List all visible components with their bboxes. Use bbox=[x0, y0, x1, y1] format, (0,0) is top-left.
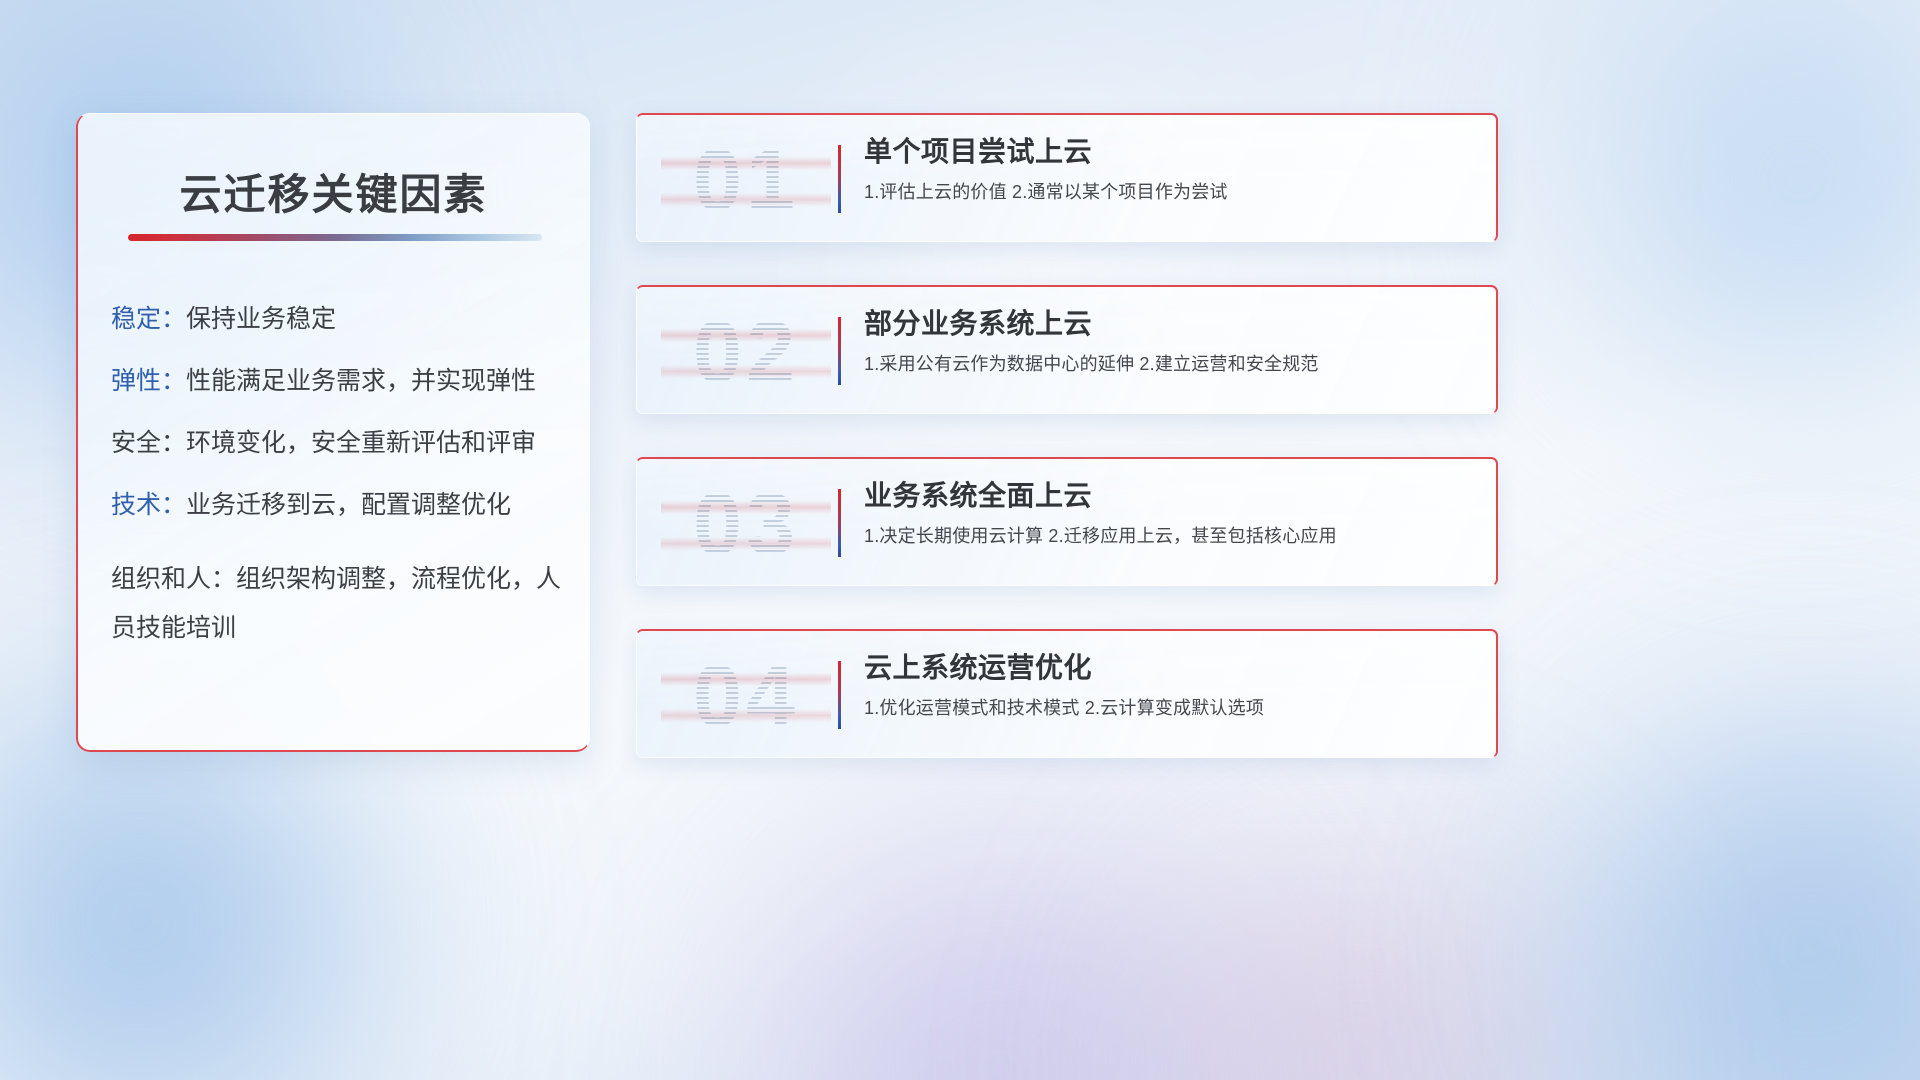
title-underline-gradient bbox=[128, 234, 542, 241]
step-card-04[interactable]: 04 云上系统运营优化 1.优化运营模式和技术模式 2.云计算变成默认选项 bbox=[636, 629, 1498, 758]
list-item: 组织和人：组织架构调整，流程优化，人员技能培训 bbox=[111, 555, 571, 652]
card-divider-bar bbox=[838, 145, 841, 213]
card-heading: 单个项目尝试上云 bbox=[864, 135, 1478, 169]
factor-text: 性能满足业务需求，并实现弹性 bbox=[186, 367, 536, 395]
factor-label: 技术： bbox=[111, 491, 186, 519]
card-divider-bar bbox=[838, 661, 841, 729]
list-item: 稳定：保持业务稳定 bbox=[111, 307, 571, 332]
step-number-04: 04 bbox=[661, 647, 831, 745]
step-number-03: 03 bbox=[661, 475, 831, 573]
slide-stage: 云迁移关键因素 稳定：保持业务稳定 弹性：性能满足业务需求，并实现弹性 安全：环… bbox=[0, 0, 1920, 1080]
factor-text: 业务迁移到云，配置调整优化 bbox=[186, 491, 511, 519]
list-item: 安全：环境变化，安全重新评估和评审 bbox=[111, 431, 571, 456]
factor-label: 组织和人： bbox=[111, 565, 236, 593]
step-card-01[interactable]: 01 单个项目尝试上云 1.评估上云的价值 2.通常以某个项目作为尝试 bbox=[636, 113, 1498, 242]
card-text-block: 单个项目尝试上云 1.评估上云的价值 2.通常以某个项目作为尝试 bbox=[864, 135, 1478, 204]
card-heading: 业务系统全面上云 bbox=[864, 479, 1478, 513]
card-text-block: 业务系统全面上云 1.决定长期使用云计算 2.迁移应用上云，甚至包括核心应用 bbox=[864, 479, 1478, 548]
list-item: 弹性：性能满足业务需求，并实现弹性 bbox=[111, 369, 571, 394]
page-title: 云迁移关键因素 bbox=[78, 161, 589, 222]
card-description: 1.决定长期使用云计算 2.迁移应用上云，甚至包括核心应用 bbox=[864, 525, 1478, 548]
factor-label: 安全： bbox=[111, 429, 186, 457]
step-card-02[interactable]: 02 部分业务系统上云 1.采用公有云作为数据中心的延伸 2.建立运营和安全规范 bbox=[636, 285, 1498, 414]
card-divider-bar bbox=[838, 317, 841, 385]
card-description: 1.评估上云的价值 2.通常以某个项目作为尝试 bbox=[864, 181, 1478, 204]
card-text-block: 云上系统运营优化 1.优化运营模式和技术模式 2.云计算变成默认选项 bbox=[864, 651, 1478, 720]
key-factors-list: 稳定：保持业务稳定 弹性：性能满足业务需求，并实现弹性 安全：环境变化，安全重新… bbox=[111, 307, 571, 652]
card-heading: 部分业务系统上云 bbox=[864, 307, 1478, 341]
step-card-03[interactable]: 03 业务系统全面上云 1.决定长期使用云计算 2.迁移应用上云，甚至包括核心应… bbox=[636, 457, 1498, 586]
list-item: 技术：业务迁移到云，配置调整优化 bbox=[111, 493, 571, 518]
factor-text: 保持业务稳定 bbox=[186, 305, 336, 333]
card-description: 1.优化运营模式和技术模式 2.云计算变成默认选项 bbox=[864, 697, 1478, 720]
key-factors-panel: 云迁移关键因素 稳定：保持业务稳定 弹性：性能满足业务需求，并实现弹性 安全：环… bbox=[76, 113, 590, 752]
factor-label: 稳定： bbox=[111, 305, 186, 333]
card-text-block: 部分业务系统上云 1.采用公有云作为数据中心的延伸 2.建立运营和安全规范 bbox=[864, 307, 1478, 376]
factor-label: 弹性： bbox=[111, 367, 186, 395]
card-divider-bar bbox=[838, 489, 841, 557]
factor-text: 环境变化，安全重新评估和评审 bbox=[186, 429, 536, 457]
step-number-01: 01 bbox=[661, 131, 831, 229]
card-description: 1.采用公有云作为数据中心的延伸 2.建立运营和安全规范 bbox=[864, 353, 1478, 376]
step-number-02: 02 bbox=[661, 303, 831, 401]
card-heading: 云上系统运营优化 bbox=[864, 651, 1478, 685]
